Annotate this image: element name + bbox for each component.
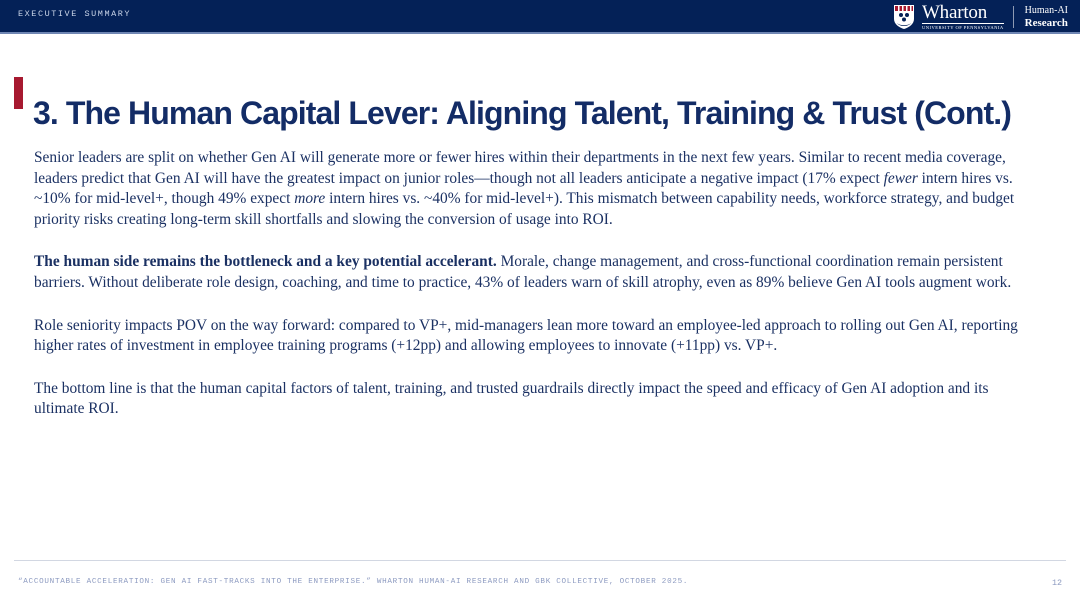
wharton-wordmark-text: Wharton xyxy=(922,3,1004,22)
paragraph-bottom-line: The bottom line is that the human capita… xyxy=(34,379,1020,420)
body-content: Senior leaders are split on whether Gen … xyxy=(34,148,1020,420)
eyebrow-label: EXECUTIVE SUMMARY xyxy=(18,9,131,19)
text-run-normal: Role seniority impacts POV on the way fo… xyxy=(34,317,1018,355)
page-number: 12 xyxy=(1052,578,1062,588)
text-run-normal: Senior leaders are split on whether Gen … xyxy=(34,149,1006,187)
footer-divider xyxy=(14,560,1066,561)
header-bar: EXECUTIVE SUMMARY Wharton University of … xyxy=(0,0,1080,34)
wordmark-rule xyxy=(922,23,1004,24)
brand-divider xyxy=(1013,6,1014,28)
text-run-italic: more xyxy=(294,190,325,207)
title-accent-bar xyxy=(14,77,23,109)
brand-lockup: Wharton University of Pennsylvania Human… xyxy=(893,2,1068,32)
wharton-wordmark: Wharton University of Pennsylvania xyxy=(922,3,1004,31)
paragraph-human-bottleneck: The human side remains the bottleneck an… xyxy=(34,252,1020,293)
text-run-normal: The bottom line is that the human capita… xyxy=(34,380,989,418)
unit-name: Human-AI Research xyxy=(1025,5,1068,29)
unit-name-line-2: Research xyxy=(1025,17,1068,29)
title-row: 3. The Human Capital Lever: Aligning Tal… xyxy=(14,72,1011,155)
text-run-italic: fewer xyxy=(884,170,918,187)
footer-source-citation: “ACCOUNTABLE ACCELERATION: GEN AI FAST-T… xyxy=(18,578,688,586)
paragraph-hiring-split: Senior leaders are split on whether Gen … xyxy=(34,148,1020,230)
text-run-bold: The human side remains the bottleneck an… xyxy=(34,253,497,270)
paragraph-role-seniority: Role seniority impacts POV on the way fo… xyxy=(34,316,1020,357)
wharton-wordmark-subtitle: University of Pennsylvania xyxy=(922,25,1004,31)
penn-shield-icon xyxy=(893,4,915,30)
unit-name-line-1: Human-AI xyxy=(1025,5,1068,17)
page-title: 3. The Human Capital Lever: Aligning Tal… xyxy=(33,93,1011,133)
